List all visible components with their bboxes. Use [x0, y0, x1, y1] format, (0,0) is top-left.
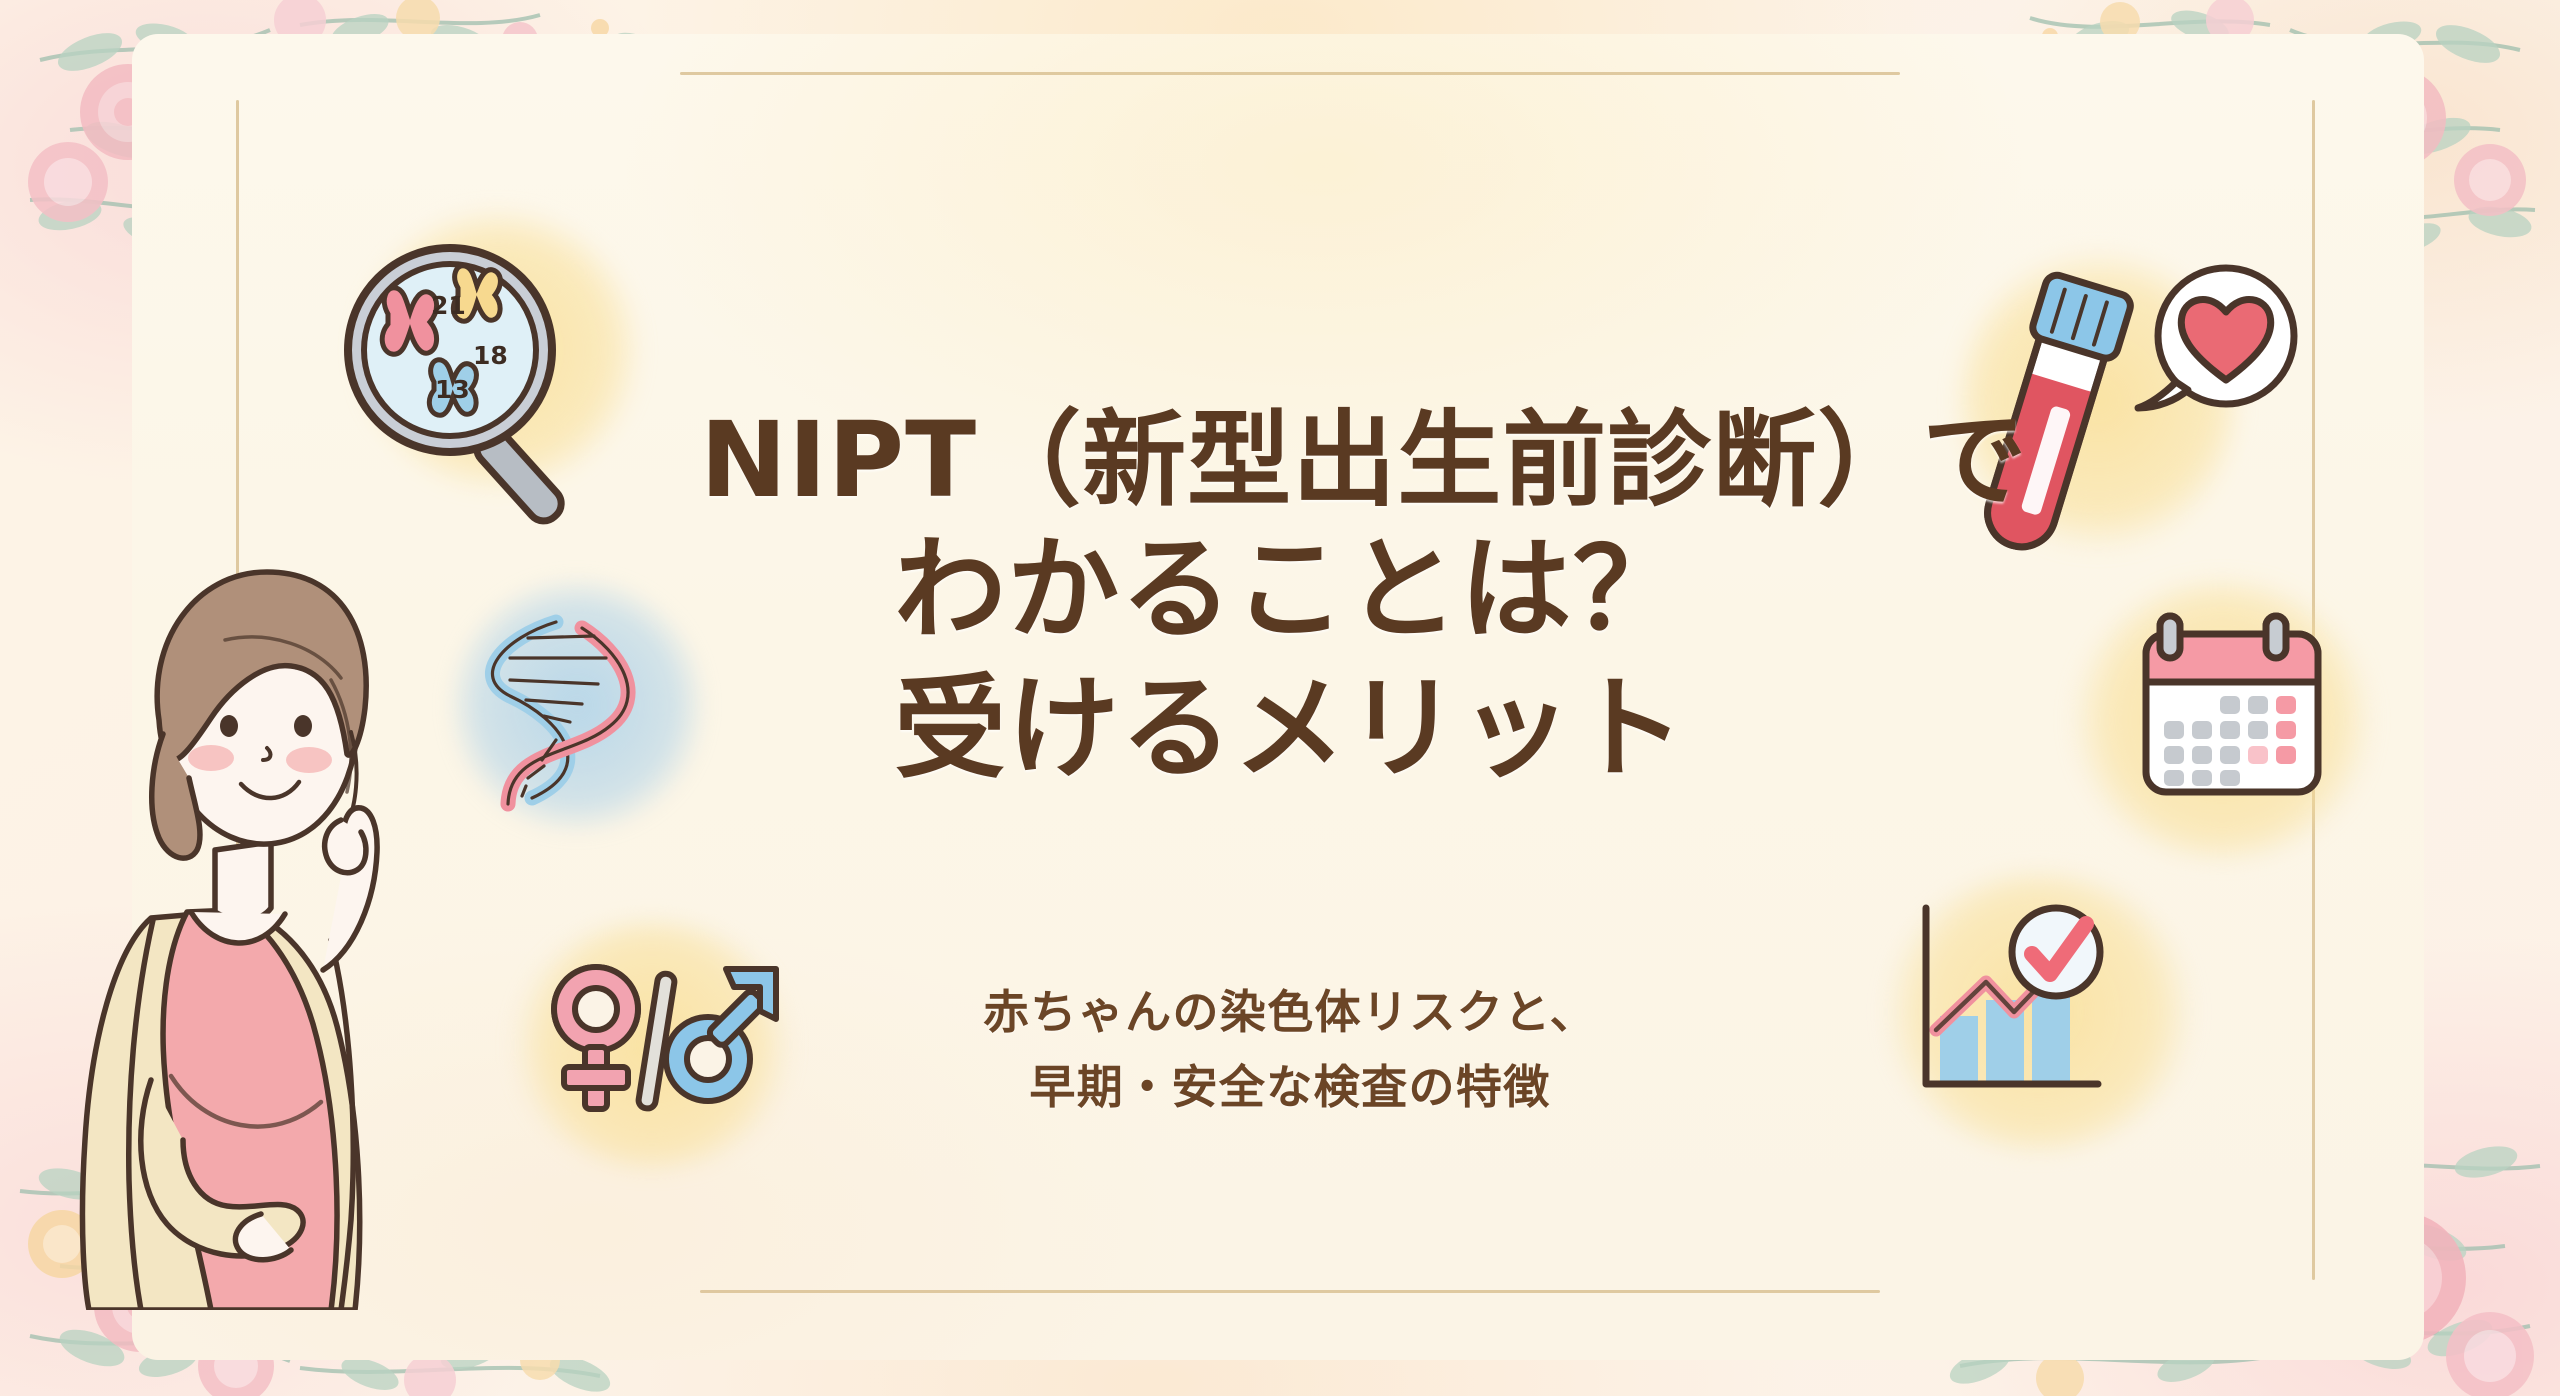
headline-line-2: わかることは？ — [690, 521, 1890, 660]
frame-line-top — [680, 72, 1900, 75]
frame-line-bottom — [700, 1290, 1880, 1293]
poster-canvas: 21 18 13 — [0, 0, 2560, 1396]
headline-line-1: NIPT（新型出生前診断）で — [690, 400, 1890, 521]
chromosome-label-13: 13 — [435, 375, 470, 404]
chromosome-label-21: 21 — [431, 291, 466, 320]
subheading-block: 赤ちゃんの染色体リスクと、 早期・安全な検査の特徴 — [700, 975, 1880, 1124]
subheading-line-2: 早期・安全な検査の特徴 — [700, 1050, 1880, 1125]
growth-chart-check-icon — [1900, 890, 2120, 1110]
pregnant-woman-illustration — [55, 520, 475, 1310]
headline-block: NIPT（新型出生前診断）で わかることは？ 受けるメリット — [690, 400, 1890, 798]
dna-helix-icon — [470, 600, 680, 820]
subheading-line-1: 赤ちゃんの染色体リスクと、 — [700, 975, 1880, 1050]
calendar-icon — [2132, 608, 2332, 808]
headline-line-3: 受けるメリット — [690, 660, 1890, 799]
heart-speech-bubble-icon — [2130, 258, 2310, 438]
magnifier-chromosome-icon: 21 18 13 — [330, 230, 630, 550]
chromosome-label-18: 18 — [473, 341, 508, 370]
